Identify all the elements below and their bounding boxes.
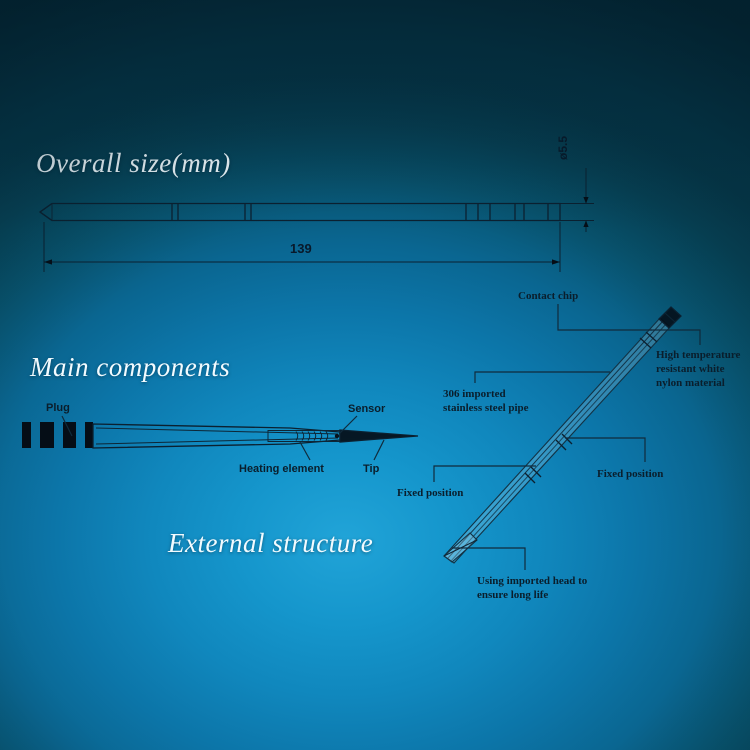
- label-steel-line-2: stainless steel pipe: [443, 401, 529, 415]
- dimension-diameter-label: ø5.5: [556, 136, 570, 160]
- label-fixed-position-right: Fixed position: [597, 468, 663, 481]
- label-tip: Tip: [363, 463, 379, 476]
- label-nylon-line-2: resistant white: [656, 362, 740, 376]
- section-title-external-structure: External structure: [168, 528, 373, 559]
- label-nylon-line-3: nylon material: [656, 376, 740, 390]
- label-imported-head: Using imported head to ensure long life: [477, 574, 587, 602]
- label-head-line-1: Using imported head to: [477, 574, 587, 588]
- label-head-line-2: ensure long life: [477, 588, 587, 602]
- section-title-main-components: Main components: [30, 352, 230, 383]
- label-steel-line-1: 306 imported: [443, 387, 529, 401]
- label-nylon-material: High temperature resistant white nylon m…: [656, 348, 740, 390]
- label-contact-chip: Contact chip: [518, 290, 578, 303]
- label-nylon-line-1: High temperature: [656, 348, 740, 362]
- section-title-overall-size: Overall size(mm): [36, 148, 231, 179]
- diagonal-shaft: [444, 307, 681, 563]
- label-sensor: Sensor: [348, 403, 385, 416]
- label-stainless-steel-pipe: 306 imported stainless steel pipe: [443, 387, 529, 415]
- label-heating-element: Heating element: [239, 463, 324, 476]
- label-plug: Plug: [46, 402, 70, 415]
- dimension-length-label: 139: [290, 241, 312, 256]
- label-fixed-position-left: Fixed position: [397, 487, 463, 500]
- product-diagram-canvas: Overall size(mm) Main components Externa…: [0, 0, 750, 750]
